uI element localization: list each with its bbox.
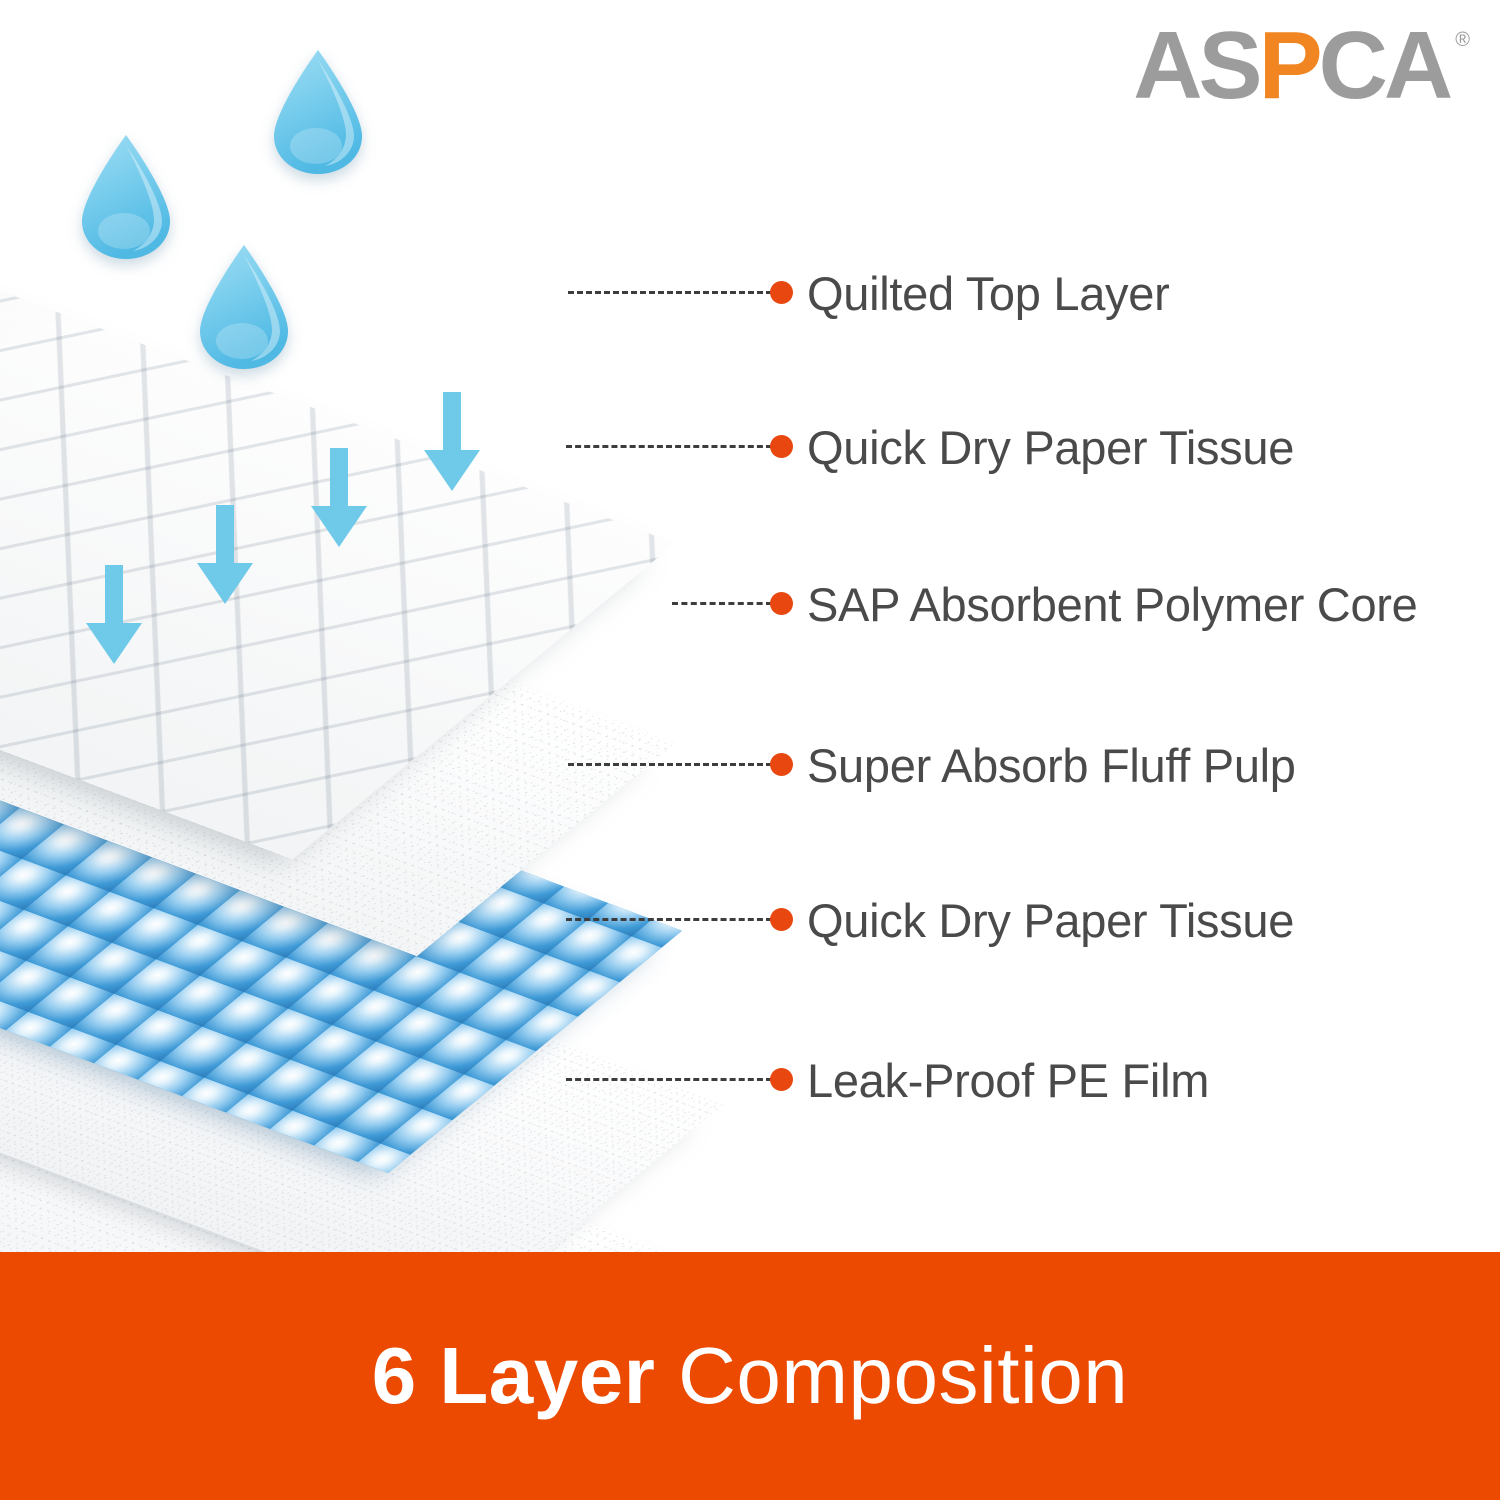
down-arrow-icon — [85, 565, 143, 665]
water-droplet-icon — [270, 48, 366, 176]
down-arrow-icon — [310, 448, 368, 548]
logo-text-p: P — [1259, 18, 1319, 114]
water-droplet-icon — [196, 243, 292, 371]
water-droplet-icon — [78, 133, 174, 261]
down-arrow-icon — [423, 392, 481, 492]
banner-title: 6 Layer Composition — [372, 1336, 1129, 1416]
infographic-canvas: AS P CA ® Quilted Top Layer Quick Dry Pa… — [0, 0, 1500, 1500]
registered-trademark-icon: ® — [1455, 30, 1470, 50]
logo-text-ca: CA — [1319, 18, 1450, 114]
aspca-logo: AS P CA ® — [1133, 18, 1470, 114]
down-arrow-icon — [196, 505, 254, 605]
banner-title-light: Composition — [678, 1331, 1128, 1420]
logo-text-as: AS — [1133, 18, 1258, 114]
layer-stack-illustration — [0, 0, 900, 1270]
bottom-banner: 6 Layer Composition — [0, 1252, 1500, 1500]
banner-title-strong: 6 Layer — [372, 1331, 656, 1420]
